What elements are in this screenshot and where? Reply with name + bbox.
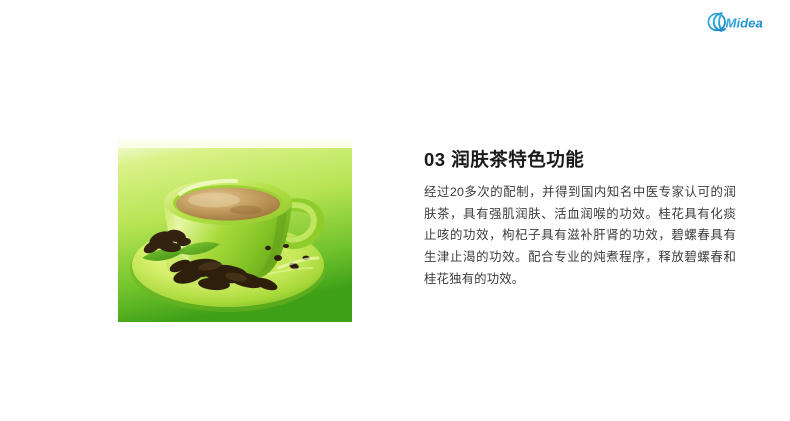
- section-body-text: 经过20多次的配制，并得到国内知名中医专家认可的润肤茶，具有强肌润肤、活血润喉的…: [424, 182, 736, 290]
- brand-logo: Midea: [706, 7, 784, 37]
- tea-cup-illustration: [118, 140, 352, 322]
- content-column: 03 润肤茶特色功能 经过20多次的配制，并得到国内知名中医专家认可的润肤茶，具…: [424, 148, 742, 290]
- section-title: 03 润肤茶特色功能: [424, 148, 742, 171]
- midea-circle-swoosh-icon: Midea: [706, 10, 784, 34]
- brand-wordmark: Midea: [726, 15, 763, 30]
- product-image-tea-cup: [118, 140, 352, 322]
